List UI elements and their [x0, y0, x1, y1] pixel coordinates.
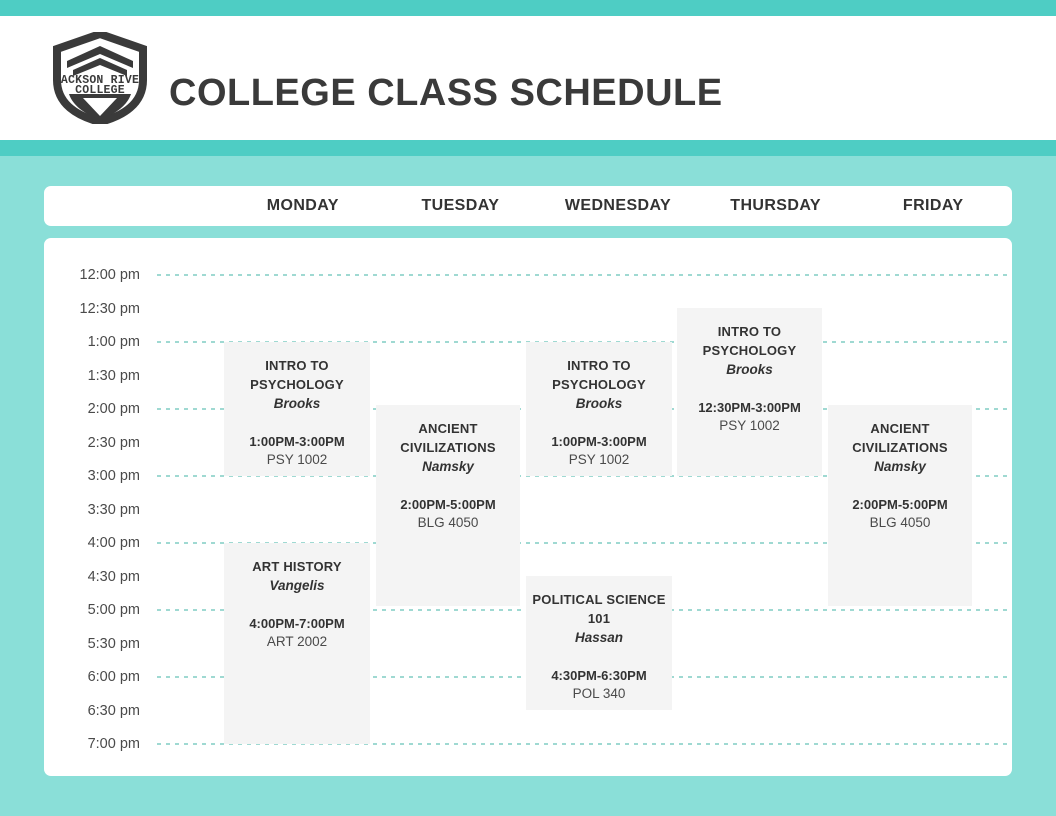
time-label: 1:30 pm [44, 369, 140, 383]
svg-text:COLLEGE: COLLEGE [75, 84, 125, 97]
event-time-range: 4:00PM-7:00PM [249, 615, 344, 633]
time-label: 4:30 pm [44, 570, 140, 584]
event-room-code: ART 2002 [267, 633, 327, 651]
event-title: INTRO TO PSYCHOLOGY [532, 356, 666, 394]
event-instructor: Brooks [576, 394, 623, 413]
day-header-monday: MONDAY [224, 186, 382, 226]
event-room-code: BLG 4050 [870, 514, 931, 532]
top-accent-bar [0, 0, 1056, 16]
page-header: JACKSON RIVER COLLEGE COLLEGE CLASS SCHE… [0, 16, 1056, 140]
class-event-block[interactable]: INTRO TO PSYCHOLOGYBrooks1:00PM-3:00PMPS… [526, 342, 672, 476]
time-label: 7:00 pm [44, 737, 140, 751]
time-label: 5:30 pm [44, 637, 140, 651]
event-title: POLITICAL SCIENCE 101 [532, 590, 666, 628]
schedule-grid-card: 12:00 pm12:30 pm1:00 pm1:30 pm2:00 pm2:3… [44, 238, 1012, 776]
class-event-block[interactable]: ANCIENT CIVILIZATIONSNamsky2:00PM-5:00PM… [376, 405, 520, 606]
event-time-range: 2:00PM-5:00PM [852, 496, 947, 514]
time-label: 12:30 pm [44, 302, 140, 316]
event-time-range: 2:00PM-5:00PM [400, 496, 495, 514]
class-event-block[interactable]: INTRO TO PSYCHOLOGYBrooks12:30PM-3:00PMP… [677, 308, 822, 476]
event-room-code: PSY 1002 [719, 417, 780, 435]
time-label: 6:30 pm [44, 704, 140, 718]
time-label: 12:00 pm [44, 268, 140, 282]
event-time-range: 4:30PM-6:30PM [551, 667, 646, 685]
event-title: INTRO TO PSYCHOLOGY [683, 322, 816, 360]
time-label: 5:00 pm [44, 603, 140, 617]
event-instructor: Hassan [575, 628, 623, 647]
event-room-code: PSY 1002 [569, 451, 630, 469]
jackson-river-college-shield-logo: JACKSON RIVER COLLEGE [53, 32, 147, 124]
event-instructor: Namsky [874, 457, 926, 476]
time-label: 3:00 pm [44, 469, 140, 483]
time-label: 1:00 pm [44, 335, 140, 349]
day-header-friday: FRIDAY [854, 186, 1012, 226]
event-title: ANCIENT CIVILIZATIONS [382, 419, 514, 457]
event-time-range: 12:30PM-3:00PM [698, 399, 801, 417]
event-room-code: POL 340 [573, 685, 626, 703]
day-header-tuesday: TUESDAY [382, 186, 540, 226]
time-label: 2:30 pm [44, 436, 140, 450]
event-title: ART HISTORY [230, 557, 364, 576]
class-event-block[interactable]: ART HISTORYVangelis4:00PM-7:00PMART 2002 [224, 543, 370, 744]
event-title: INTRO TO PSYCHOLOGY [230, 356, 364, 394]
time-label: 3:30 pm [44, 503, 140, 517]
time-column-spacer [44, 186, 224, 226]
event-instructor: Namsky [422, 457, 474, 476]
day-header-row: MONDAY TUESDAY WEDNESDAY THURSDAY FRIDAY [44, 186, 1012, 226]
event-room-code: PSY 1002 [267, 451, 328, 469]
day-header-wednesday: WEDNESDAY [539, 186, 697, 226]
class-event-block[interactable]: ANCIENT CIVILIZATIONSNamsky2:00PM-5:00PM… [828, 405, 972, 606]
day-header-thursday: THURSDAY [697, 186, 855, 226]
event-time-range: 1:00PM-3:00PM [249, 433, 344, 451]
event-instructor: Vangelis [269, 576, 324, 595]
class-event-block[interactable]: INTRO TO PSYCHOLOGYBrooks1:00PM-3:00PMPS… [224, 342, 370, 476]
event-time-range: 1:00PM-3:00PM [551, 433, 646, 451]
mid-accent-bar [0, 140, 1056, 156]
schedule-grid: 12:00 pm12:30 pm1:00 pm1:30 pm2:00 pm2:3… [44, 238, 1012, 776]
time-label: 6:00 pm [44, 670, 140, 684]
time-label: 2:00 pm [44, 402, 140, 416]
page-title: COLLEGE CLASS SCHEDULE [169, 72, 723, 115]
event-room-code: BLG 4050 [418, 514, 479, 532]
time-label: 4:00 pm [44, 536, 140, 550]
hour-gridline [157, 274, 1012, 276]
event-instructor: Brooks [726, 360, 773, 379]
event-instructor: Brooks [274, 394, 321, 413]
class-event-block[interactable]: POLITICAL SCIENCE 101Hassan4:30PM-6:30PM… [526, 576, 672, 710]
event-title: ANCIENT CIVILIZATIONS [834, 419, 966, 457]
